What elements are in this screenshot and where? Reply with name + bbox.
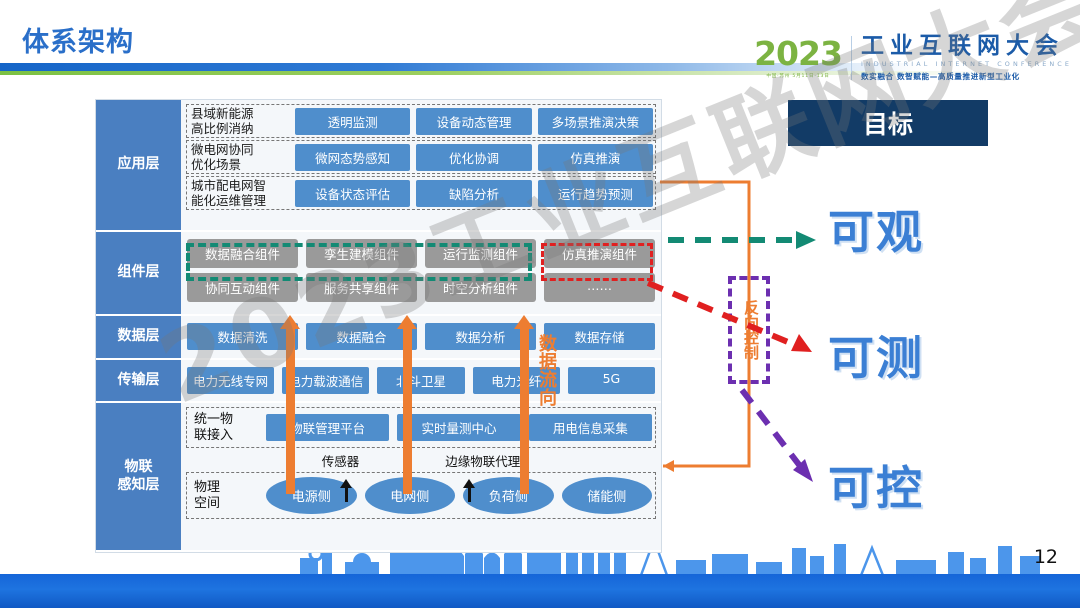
iot-access-label: 统一物联接入 xyxy=(190,412,266,443)
sensor-line: 传感器边缘物联代理 xyxy=(186,448,656,472)
scene-label-0: 县域新能源高比例消纳 xyxy=(189,106,295,136)
sensor-label-right: 边缘物联代理 xyxy=(445,451,520,470)
logo-year: 2023 xyxy=(754,37,842,70)
app-chip-2-1[interactable]: 缺陷分析 xyxy=(416,180,531,207)
layer-body-2: 数据清洗数据融合数据分析数据存储 xyxy=(181,316,661,357)
data-flow-arrow-head-2 xyxy=(514,315,534,329)
logo-divider xyxy=(851,36,852,80)
app-chip-1-1[interactable]: 优化协调 xyxy=(416,144,531,171)
layer-chip-3-4[interactable]: 5G xyxy=(568,367,655,394)
architecture-diagram: 应用层县域新能源高比例消纳透明监测设备动态管理多场景推演决策微电网协同优化场景微… xyxy=(95,99,662,553)
data-flow-arrow-stem-2 xyxy=(520,329,529,494)
conference-logo: 2023 中国·苏州 5月11日-13日 工业互联网大会 INDUSTRIAL … xyxy=(754,30,1072,86)
scene-label-2: 城市配电网智能化运维管理 xyxy=(189,178,295,208)
layer-name-2: 数据层 xyxy=(96,316,181,357)
data-flow-arrow-0 xyxy=(283,315,297,494)
teal-highlight-box xyxy=(186,243,532,281)
red-highlight-box xyxy=(541,243,653,281)
app-chip-0-2[interactable]: 多场景推演决策 xyxy=(538,108,653,135)
page-number: 12 xyxy=(1034,546,1058,568)
iot-access-chip-1[interactable]: 实时量测中心 xyxy=(397,414,520,441)
scene-chips-0: 透明监测设备动态管理多场景推演决策 xyxy=(295,108,653,135)
logo-name-block: 工业互联网大会 INDUSTRIAL INTERNET CONFERENCE 数… xyxy=(861,34,1072,81)
layer-row-2: 数据层数据清洗数据融合数据分析数据存储 xyxy=(96,316,661,359)
physical-space-group: 物理空间电源侧电网侧负荷侧储能侧 xyxy=(186,472,656,519)
scene-chips-2: 设备状态评估缺陷分析运行趋势预测 xyxy=(295,180,653,207)
scene-chips-1: 微网态势感知优化协调仿真推演 xyxy=(295,144,653,171)
layer-body-0: 县域新能源高比例消纳透明监测设备动态管理多场景推演决策微电网协同优化场景微网态势… xyxy=(181,100,661,230)
physical-space-chips: 电源侧电网侧负荷侧储能侧 xyxy=(266,477,652,514)
goal-header: 目标 xyxy=(788,100,988,146)
data-flow-label: 数据流向 xyxy=(533,334,555,406)
reverse-control-box: 反向控制 xyxy=(728,276,770,384)
logo-name-en: INDUSTRIAL INTERNET CONFERENCE xyxy=(861,60,1072,68)
physical-chip-2[interactable]: 负荷侧 xyxy=(463,477,554,514)
physical-chip-3[interactable]: 储能侧 xyxy=(562,477,653,514)
scene-row-1: 微电网协同优化场景微网态势感知优化协调仿真推演 xyxy=(186,140,656,174)
sensor-label-left: 传感器 xyxy=(322,451,360,470)
layer-name-4: 物联感知层 xyxy=(96,403,181,550)
layer-name-3: 传输层 xyxy=(96,360,181,401)
layer-chip-3-2[interactable]: 北斗卫星 xyxy=(377,367,464,394)
logo-year-block: 2023 中国·苏州 5月11日-13日 xyxy=(754,37,842,79)
sensor-arrow-head-0 xyxy=(340,479,352,488)
page-title: 体系架构 xyxy=(22,20,134,59)
data-flow-arrow-2 xyxy=(517,315,531,494)
app-chip-2-0[interactable]: 设备状态评估 xyxy=(295,180,410,207)
sensor-arrow-stem-0 xyxy=(345,488,348,502)
layer-row-3: 传输层电力无线专网电力载波通信北斗卫星电力光纤5G xyxy=(96,360,661,403)
layer-name-1: 组件层 xyxy=(96,232,181,314)
iot-access-chip-2[interactable]: 用电信息采集 xyxy=(529,414,652,441)
data-flow-arrow-head-1 xyxy=(397,315,417,329)
layer-chip-3-0[interactable]: 电力无线专网 xyxy=(187,367,274,394)
logo-name-cn: 工业互联网大会 xyxy=(861,34,1072,58)
data-flow-arrow-1 xyxy=(400,315,414,494)
sensor-arrow-stem-1 xyxy=(468,488,471,502)
physical-space-label: 物理空间 xyxy=(190,480,266,511)
app-chip-0-0[interactable]: 透明监测 xyxy=(295,108,410,135)
sensor-arrow-0 xyxy=(340,479,352,502)
app-chip-2-2[interactable]: 运行趋势预测 xyxy=(538,180,653,207)
scene-label-1: 微电网协同优化场景 xyxy=(189,142,295,172)
scene-row-2: 城市配电网智能化运维管理设备状态评估缺陷分析运行趋势预测 xyxy=(186,176,656,210)
goal-item-measurable: 可测 xyxy=(828,322,924,388)
logo-year-subtitle: 中国·苏州 5月11日-13日 xyxy=(754,73,842,79)
data-flow-arrow-stem-0 xyxy=(286,329,295,494)
iot-access-chips: 物联管理平台实时量测中心用电信息采集 xyxy=(266,414,652,441)
app-chip-1-2[interactable]: 仿真推演 xyxy=(538,144,653,171)
flat-row-3: 电力无线专网电力载波通信北斗卫星电力光纤5G xyxy=(186,364,656,397)
layer-body-4: 统一物联接入物联管理平台实时量测中心用电信息采集传感器边缘物联代理物理空间电源侧… xyxy=(181,403,661,550)
goal-item-controllable: 可控 xyxy=(828,452,924,518)
layer-row-0: 应用层县域新能源高比例消纳透明监测设备动态管理多场景推演决策微电网协同优化场景微… xyxy=(96,100,661,232)
reverse-control-label: 反向控制 xyxy=(740,300,758,360)
logo-tagline: 数实融合 数智赋能—高质量推进新型工业化 xyxy=(861,71,1072,82)
data-flow-arrow-stem-1 xyxy=(403,329,412,494)
layer-chip-2-3[interactable]: 数据存储 xyxy=(544,323,655,350)
iot-access-group: 统一物联接入物联管理平台实时量测中心用电信息采集 xyxy=(186,407,656,448)
sensor-arrow-head-1 xyxy=(463,479,475,488)
goal-item-observable: 可观 xyxy=(828,196,924,262)
sensor-arrow-1 xyxy=(463,479,475,502)
layer-row-4: 物联感知层统一物联接入物联管理平台实时量测中心用电信息采集传感器边缘物联代理物理… xyxy=(96,403,661,552)
layer-name-0: 应用层 xyxy=(96,100,181,230)
layer-body-3: 电力无线专网电力载波通信北斗卫星电力光纤5G xyxy=(181,360,661,401)
app-chip-1-0[interactable]: 微网态势感知 xyxy=(295,144,410,171)
data-flow-arrow-head-0 xyxy=(280,315,300,329)
footer-bar xyxy=(0,574,1080,608)
flat-row-2: 数据清洗数据融合数据分析数据存储 xyxy=(186,320,656,353)
scene-row-0: 县域新能源高比例消纳透明监测设备动态管理多场景推演决策 xyxy=(186,104,656,138)
app-chip-0-1[interactable]: 设备动态管理 xyxy=(416,108,531,135)
